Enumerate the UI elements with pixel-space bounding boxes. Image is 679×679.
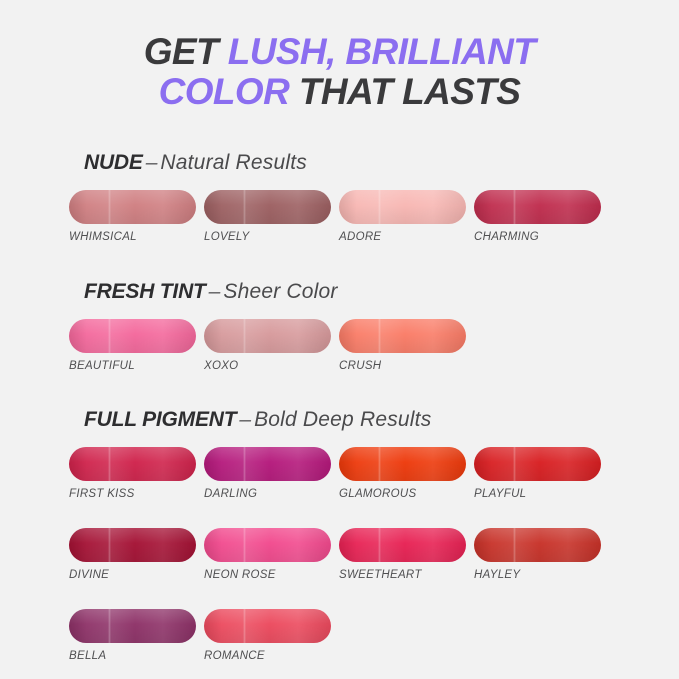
color-swatch[interactable] <box>474 528 601 562</box>
section-nude: NUDE–Natural Results WHIMSICAL LOVELY AD… <box>0 152 679 243</box>
swatch-label: SWEETHEART <box>339 569 466 581</box>
swatch-label: DIVINE <box>69 569 196 581</box>
swatch-label: LOVELY <box>204 231 331 243</box>
swatch-label: DARLING <box>204 488 331 500</box>
swatch-cell[interactable]: HAYLEY <box>474 528 601 581</box>
swatch-label: HAYLEY <box>474 569 601 581</box>
swatch-cell[interactable]: BEAUTIFUL <box>69 319 196 372</box>
color-swatch[interactable] <box>204 319 331 353</box>
color-swatch[interactable] <box>474 447 601 481</box>
section-title-strong: NUDE <box>84 151 143 174</box>
section-title-strong: FRESH TINT <box>84 280 206 303</box>
color-swatch[interactable] <box>204 609 331 643</box>
section-title-full-pigment: FULL PIGMENT–Bold Deep Results <box>0 409 679 430</box>
swatch-cell[interactable]: FIRST KISS <box>69 447 196 500</box>
row-spacer <box>0 500 679 528</box>
swatch-cell[interactable]: SWEETHEART <box>339 528 466 581</box>
section-title-dash: – <box>236 408 254 431</box>
swatch-row: FIRST KISS DARLING GLAMOROUS PLAYFUL <box>0 447 679 500</box>
swatch-cell[interactable]: LOVELY <box>204 190 331 243</box>
headline-line-1: GET LUSH, BRILLIANT <box>0 32 679 72</box>
headline-lush-brilliant: LUSH, BRILLIANT <box>228 31 536 72</box>
color-swatch[interactable] <box>69 319 196 353</box>
swatch-label: CRUSH <box>339 360 466 372</box>
row-spacer <box>0 581 679 609</box>
swatch-label: BELLA <box>69 650 196 662</box>
color-swatch[interactable] <box>204 528 331 562</box>
color-swatch[interactable] <box>339 190 466 224</box>
color-swatch[interactable] <box>69 447 196 481</box>
section-title-dash: – <box>143 151 161 174</box>
swatch-label: NEON ROSE <box>204 569 331 581</box>
swatch-cell[interactable]: ROMANCE <box>204 609 331 662</box>
swatch-label: ADORE <box>339 231 466 243</box>
color-swatch[interactable] <box>474 190 601 224</box>
swatch-cell[interactable]: CRUSH <box>339 319 466 372</box>
swatch-row: DIVINE NEON ROSE SWEETHEART HAYLEY <box>0 528 679 581</box>
section-fresh-tint: FRESH TINT–Sheer Color BEAUTIFUL XOXO CR… <box>0 281 679 372</box>
section-title-dash: – <box>206 280 224 303</box>
section-title-strong: FULL PIGMENT <box>84 408 236 431</box>
section-title-light: Bold Deep Results <box>254 408 431 431</box>
swatch-label: WHIMSICAL <box>69 231 196 243</box>
section-title-light: Sheer Color <box>223 280 337 303</box>
headline-get: GET <box>144 31 228 72</box>
swatch-label: XOXO <box>204 360 331 372</box>
color-swatch[interactable] <box>69 609 196 643</box>
swatch-label: GLAMOROUS <box>339 488 466 500</box>
swatch-label: BEAUTIFUL <box>69 360 196 372</box>
color-swatch[interactable] <box>69 528 196 562</box>
section-full-pigment: FULL PIGMENT–Bold Deep Results FIRST KIS… <box>0 409 679 662</box>
swatch-label: PLAYFUL <box>474 488 601 500</box>
color-swatch[interactable] <box>339 319 466 353</box>
headline-line-2: COLOR THAT LASTS <box>0 72 679 112</box>
swatch-cell[interactable]: GLAMOROUS <box>339 447 466 500</box>
swatch-label: ROMANCE <box>204 650 331 662</box>
swatch-cell[interactable]: WHIMSICAL <box>69 190 196 243</box>
swatch-cell[interactable]: BELLA <box>69 609 196 662</box>
color-swatch[interactable] <box>339 528 466 562</box>
section-title-light: Natural Results <box>160 151 307 174</box>
swatch-label: CHARMING <box>474 231 601 243</box>
section-title-fresh-tint: FRESH TINT–Sheer Color <box>0 281 679 302</box>
headline-color: COLOR <box>159 71 290 112</box>
color-swatch[interactable] <box>204 190 331 224</box>
swatch-row: WHIMSICAL LOVELY ADORE CHARMING <box>0 190 679 243</box>
swatch-cell[interactable]: XOXO <box>204 319 331 372</box>
swatch-cell[interactable]: DARLING <box>204 447 331 500</box>
lipstick-shade-chart: GET LUSH, BRILLIANT COLOR THAT LASTS NUD… <box>0 0 679 679</box>
swatch-row: BEAUTIFUL XOXO CRUSH <box>0 319 679 372</box>
color-swatch[interactable] <box>204 447 331 481</box>
color-swatch[interactable] <box>69 190 196 224</box>
swatch-cell[interactable]: DIVINE <box>69 528 196 581</box>
swatch-label: FIRST KISS <box>69 488 196 500</box>
swatch-row: BELLA ROMANCE <box>0 609 679 662</box>
page-title: GET LUSH, BRILLIANT COLOR THAT LASTS <box>0 0 679 112</box>
color-swatch[interactable] <box>339 447 466 481</box>
swatch-cell[interactable]: NEON ROSE <box>204 528 331 581</box>
swatch-cell[interactable]: CHARMING <box>474 190 601 243</box>
swatch-cell[interactable]: ADORE <box>339 190 466 243</box>
headline-that-lasts: THAT LASTS <box>289 71 520 112</box>
swatch-cell[interactable]: PLAYFUL <box>474 447 601 500</box>
section-title-nude: NUDE–Natural Results <box>0 152 679 173</box>
